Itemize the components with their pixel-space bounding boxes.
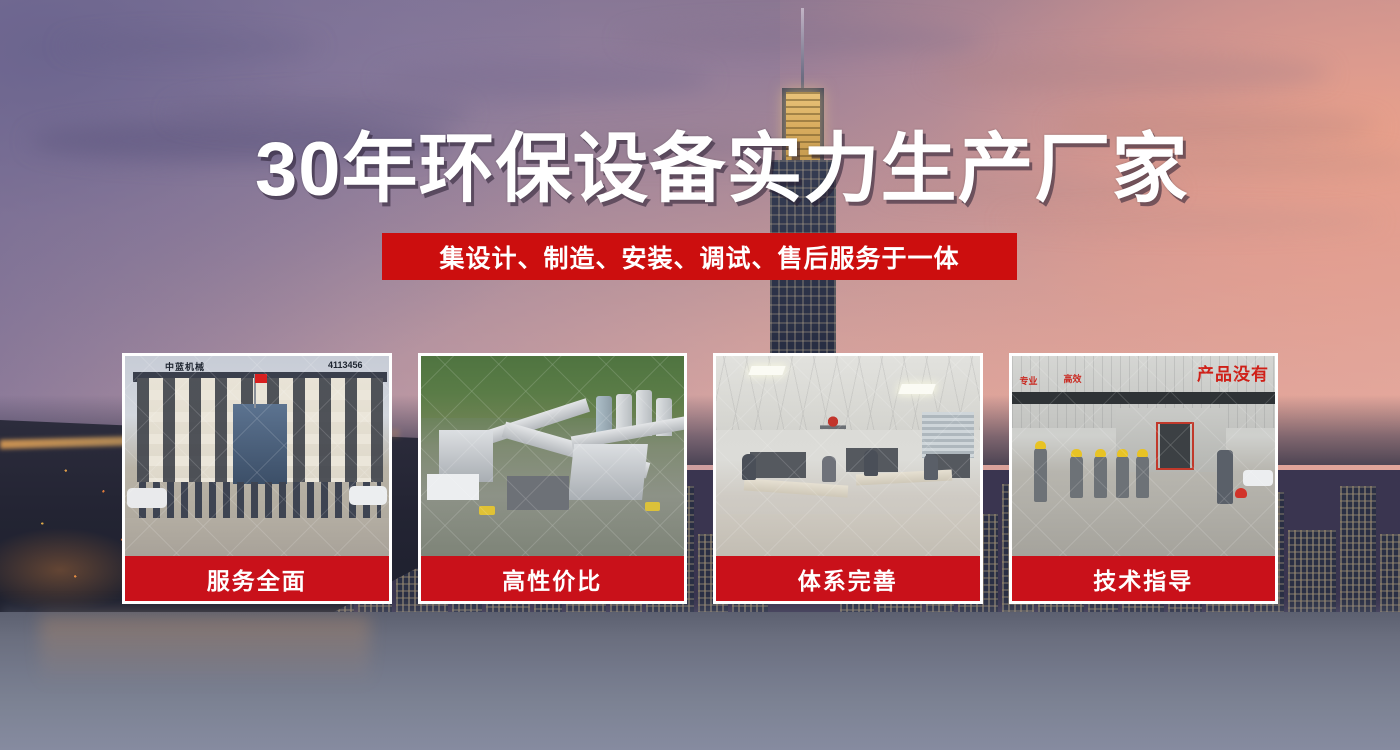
feature-card[interactable]: 中蓝机械 4113456 服务全面 [122, 353, 392, 604]
subtitle-banner: 集设计、制造、安装、调试、售后服务于一体 [382, 233, 1017, 280]
watermark-overlay [125, 356, 389, 556]
subtitle-text: 集设计、制造、安装、调试、售后服务于一体 [439, 239, 959, 275]
headline-title: 30年环保设备实力生产厂家 [255, 132, 1189, 208]
office-building-staff-photo: 中蓝机械 4113456 [125, 356, 389, 556]
card-caption: 体系完善 [716, 556, 980, 601]
aerial-factory-plant-photo [421, 356, 685, 556]
watermark-overlay [716, 356, 980, 556]
office-interior-staff-photo [716, 356, 980, 556]
card-caption: 高性价比 [421, 556, 685, 601]
feature-card[interactable]: 高性价比 [418, 353, 688, 604]
water-reflection [40, 616, 370, 686]
feature-card-row: 中蓝机械 4113456 服务全面 [122, 353, 1278, 604]
watermark-overlay [1012, 356, 1276, 556]
workers-training-factory-photo: 产品没有 专业 高效 [1012, 356, 1276, 556]
feature-card[interactable]: 产品没有 专业 高效 技术指导 [1009, 353, 1279, 604]
promo-banner: 30年环保设备实力生产厂家 集设计、制造、安装、调试、售后服务于一体 中蓝机械 … [0, 0, 1400, 750]
tower-spire [801, 8, 804, 94]
watermark-overlay [421, 356, 685, 556]
card-caption: 服务全面 [125, 556, 389, 601]
card-caption: 技术指导 [1012, 556, 1276, 601]
feature-card[interactable]: 体系完善 [713, 353, 983, 604]
